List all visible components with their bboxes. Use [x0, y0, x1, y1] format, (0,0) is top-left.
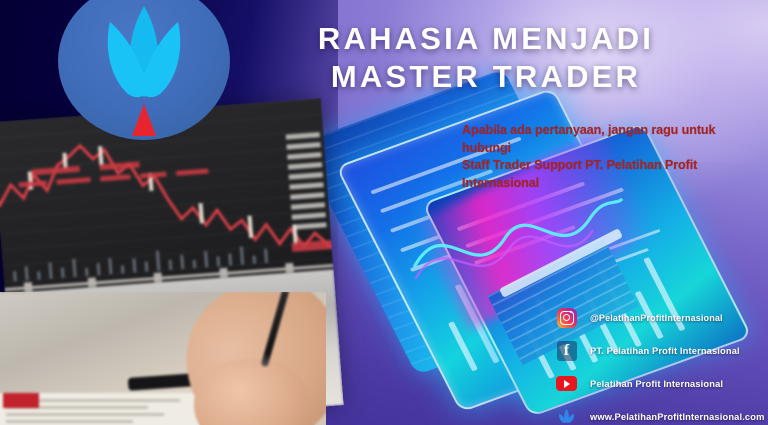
website-url: www.PelatihanProfitInternasional.com — [590, 412, 765, 422]
contact-line-1: Apabila ada pertanyaan, jangan ragu untu… — [462, 122, 758, 140]
social-row-facebook[interactable]: f PT. Pelatihan Profit Internasional — [556, 336, 768, 365]
brand-logo — [58, 0, 230, 140]
title-line-1: RAHASIA MENJADI — [262, 20, 710, 58]
social-row-website[interactable]: www.PelatihanProfitInternasional.com — [556, 402, 768, 425]
poster-canvas: RAHASIA MENJADI MASTER TRADER Apabila ad… — [0, 0, 768, 425]
youtube-channel-name: Pelatihan Profit Internasional — [590, 379, 723, 389]
facebook-page-name: PT. Pelatihan Profit Internasional — [590, 346, 740, 356]
lotus-icon — [58, 0, 230, 140]
photo2-blur-overlay — [0, 292, 326, 425]
contact-message: Apabila ada pertanyaan, jangan ragu untu… — [462, 122, 758, 192]
social-row-instagram[interactable]: @PelatihanProfitInternasional — [556, 303, 768, 332]
contact-line-2: hubungi — [462, 140, 758, 158]
website-lotus-icon[interactable] — [556, 406, 577, 425]
contact-line-4: Internasional — [462, 175, 758, 193]
instagram-handle: @PelatihanProfitInternasional — [590, 313, 723, 323]
instagram-icon[interactable] — [556, 307, 577, 328]
facebook-icon[interactable]: f — [556, 340, 577, 361]
page-title: RAHASIA MENJADI MASTER TRADER — [262, 20, 710, 96]
social-links: @PelatihanProfitInternasional f PT. Pela… — [556, 303, 768, 425]
contact-line-3: Staff Trader Support PT. Pelatihan Profi… — [462, 157, 758, 175]
social-row-youtube[interactable]: Pelatihan Profit Internasional — [556, 369, 768, 398]
youtube-icon[interactable] — [556, 373, 577, 394]
hand-with-pen-photo — [0, 292, 326, 425]
title-line-2: MASTER TRADER — [262, 58, 710, 96]
